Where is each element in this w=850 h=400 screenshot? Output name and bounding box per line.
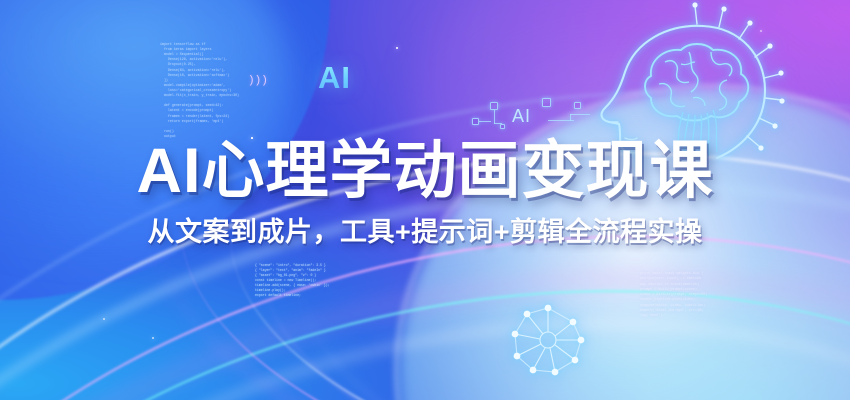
headline-block: AI心理学动画变现课 从文案到成片，工具+提示词+剪辑全流程实操 xyxy=(0,140,850,246)
ai-wordmark-large: AI xyxy=(318,60,351,96)
sparkle-dot xyxy=(396,47,398,49)
course-promo-banner: import tensorflow as tf from keras impor… xyxy=(0,0,850,400)
page-title: AI心理学动画变现课 xyxy=(0,140,850,203)
sparkle-dot xyxy=(152,337,154,339)
network-node-graphic xyxy=(505,300,591,380)
sparkle-dot xyxy=(103,318,105,320)
page-subtitle: 从文案到成片，工具+提示词+剪辑全流程实操 xyxy=(0,219,850,246)
code-brace-glyph: ))) xyxy=(248,75,268,87)
